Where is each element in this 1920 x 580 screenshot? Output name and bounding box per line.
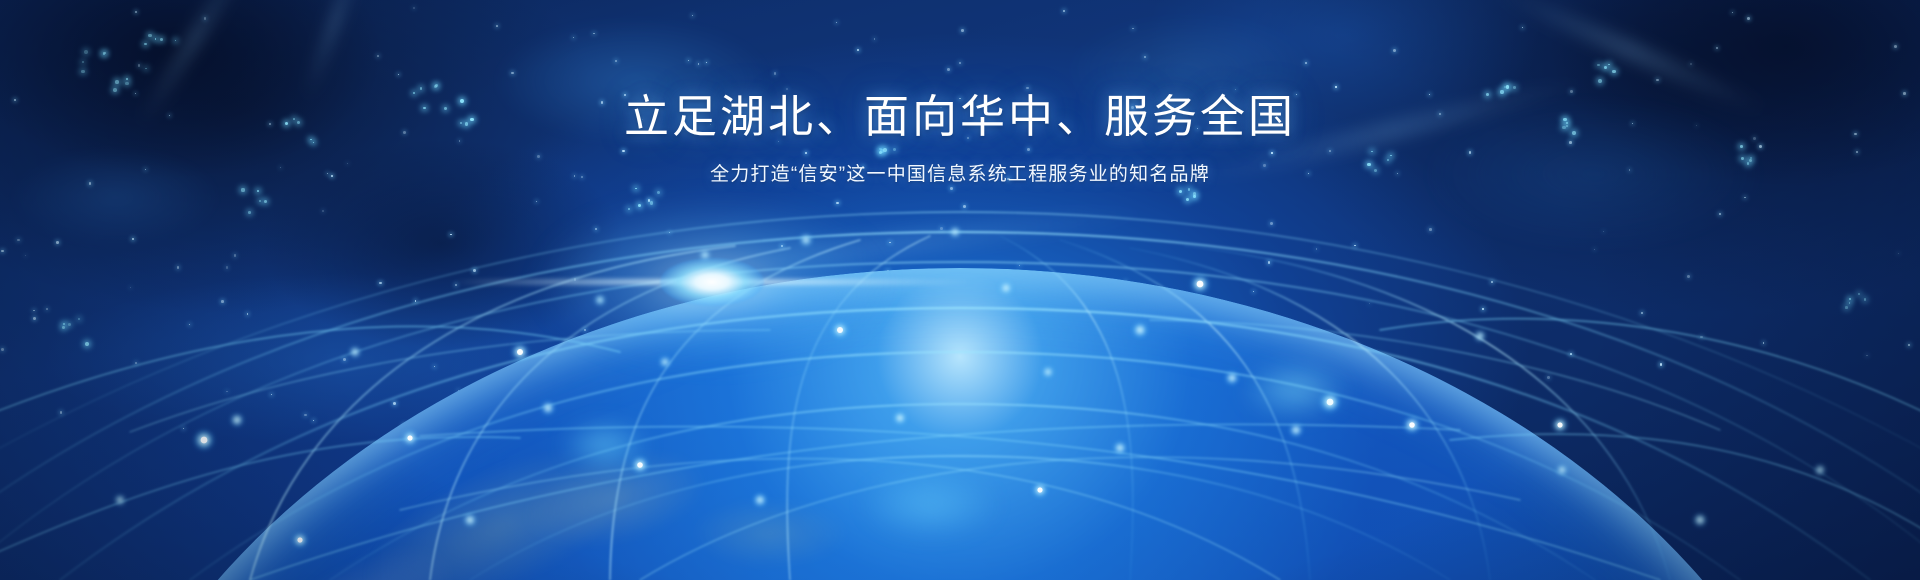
star xyxy=(1716,47,1718,49)
star xyxy=(1656,79,1659,82)
star-cluster-point xyxy=(160,38,164,42)
star xyxy=(698,63,699,64)
globe-glow-spot xyxy=(560,420,650,470)
star-cluster-point xyxy=(1849,302,1851,304)
star xyxy=(1594,249,1595,250)
star-cluster-point xyxy=(628,208,630,210)
star xyxy=(511,72,513,74)
star xyxy=(959,62,961,64)
star xyxy=(961,29,964,32)
star xyxy=(1482,308,1484,310)
star-cluster-point xyxy=(657,191,660,194)
star xyxy=(234,254,236,256)
flare-core xyxy=(660,258,764,306)
star-cluster-point xyxy=(1193,192,1197,196)
star xyxy=(135,362,137,364)
star xyxy=(25,255,26,256)
star xyxy=(132,238,134,240)
star xyxy=(1687,275,1690,278)
star-cluster-point xyxy=(175,40,177,42)
star xyxy=(536,201,537,202)
star xyxy=(1641,312,1643,314)
star xyxy=(226,266,228,268)
star xyxy=(1369,303,1370,304)
star-cluster-point xyxy=(1858,293,1861,296)
star xyxy=(221,300,224,303)
star xyxy=(135,11,138,14)
star xyxy=(60,411,63,414)
star-cluster-point xyxy=(638,204,641,207)
star xyxy=(1393,49,1396,52)
star xyxy=(1,348,4,351)
star xyxy=(1335,86,1336,87)
star xyxy=(17,239,19,241)
star xyxy=(1270,222,1273,225)
star xyxy=(1547,376,1550,379)
star-cluster-point xyxy=(1845,306,1848,309)
star xyxy=(313,420,314,421)
star xyxy=(138,64,140,66)
star-cluster-point xyxy=(420,87,422,89)
star-cluster-point xyxy=(145,68,147,70)
star-cluster-point xyxy=(241,188,244,191)
star xyxy=(774,72,777,75)
star xyxy=(963,205,966,208)
globe-glow-spot xyxy=(860,470,1000,540)
star xyxy=(1747,17,1750,20)
star-cluster-point xyxy=(103,52,105,54)
globe-glow-spot xyxy=(1240,360,1350,420)
star-cluster-point xyxy=(264,200,267,203)
star xyxy=(226,391,228,393)
star xyxy=(1268,261,1271,264)
star-cluster-point xyxy=(257,190,259,192)
star-cluster-point xyxy=(1513,86,1516,89)
star xyxy=(1026,87,1029,90)
star xyxy=(450,234,452,236)
star-cluster-point xyxy=(650,201,654,205)
star xyxy=(322,210,324,212)
star-cluster-point xyxy=(1597,64,1600,67)
star xyxy=(1019,265,1020,266)
star xyxy=(1898,253,1899,254)
star xyxy=(1744,197,1746,199)
star xyxy=(1132,28,1133,29)
star-cluster-point xyxy=(85,342,89,346)
star xyxy=(1866,355,1867,356)
star xyxy=(1144,56,1147,59)
star xyxy=(1719,213,1721,215)
star xyxy=(496,25,498,27)
star xyxy=(33,317,36,320)
star-cluster-point xyxy=(81,70,84,73)
star-cluster-point xyxy=(1598,79,1602,83)
star xyxy=(1603,231,1605,233)
star-cluster-point xyxy=(155,38,157,40)
star xyxy=(271,394,272,395)
star-cluster-point xyxy=(1864,298,1867,301)
star xyxy=(940,227,943,230)
star-cluster-point xyxy=(84,50,88,54)
star xyxy=(1316,248,1318,250)
star xyxy=(398,74,400,76)
star xyxy=(343,358,346,361)
star xyxy=(177,266,180,269)
star xyxy=(615,60,617,62)
star xyxy=(874,38,876,40)
star-cluster-point xyxy=(248,211,251,214)
star xyxy=(130,287,131,288)
star-cluster-point xyxy=(1604,66,1607,69)
star-cluster-point xyxy=(68,323,71,326)
star-cluster-point xyxy=(125,82,129,86)
star xyxy=(189,324,190,325)
star xyxy=(1894,45,1897,48)
star xyxy=(786,88,788,90)
star xyxy=(33,310,35,312)
hero-banner: 立足湖北、面向华中、服务全国 全力打造“信安”这一中国信息系统工程服务业的知名品… xyxy=(0,0,1920,580)
star xyxy=(377,55,379,57)
star xyxy=(593,33,595,35)
star xyxy=(1491,281,1493,283)
star-cluster-point xyxy=(635,188,637,190)
light-flare xyxy=(712,282,714,284)
banner-subline: 全力打造“信安”这一中国信息系统工程服务业的知名品牌 xyxy=(0,159,1920,186)
star-cluster-point xyxy=(1186,198,1190,202)
star xyxy=(1700,336,1702,338)
star xyxy=(1253,291,1254,292)
star xyxy=(1,250,4,253)
star xyxy=(1690,63,1692,65)
star-cluster-point xyxy=(1188,188,1191,191)
star-cluster-point xyxy=(1506,85,1509,88)
star xyxy=(413,7,415,9)
star xyxy=(1305,62,1307,64)
star xyxy=(393,402,396,405)
star xyxy=(56,241,59,244)
star xyxy=(857,49,859,51)
star-cluster-point xyxy=(78,318,81,321)
star xyxy=(1063,10,1065,12)
star xyxy=(204,17,207,20)
star xyxy=(692,15,693,16)
star-cluster-point xyxy=(82,61,84,63)
star xyxy=(1732,12,1733,13)
star xyxy=(434,366,435,367)
star xyxy=(1429,228,1432,231)
star-cluster-point xyxy=(259,200,261,202)
star xyxy=(688,60,690,62)
banner-copy: 立足湖北、面向华中、服务全国 全力打造“信安”这一中国信息系统工程服务业的知名品… xyxy=(0,92,1920,186)
star xyxy=(1570,353,1572,355)
star xyxy=(1763,342,1764,343)
star-cluster-point xyxy=(1179,190,1182,193)
star xyxy=(183,428,184,429)
star xyxy=(836,22,837,23)
star-cluster-point xyxy=(144,43,147,46)
star-cluster-point xyxy=(62,326,65,329)
star-cluster-point xyxy=(115,80,119,84)
star-cluster-point xyxy=(148,34,151,37)
star xyxy=(1354,245,1355,246)
star xyxy=(706,62,707,63)
star xyxy=(247,313,248,314)
star xyxy=(1908,344,1911,347)
star xyxy=(415,300,416,301)
star xyxy=(573,37,574,38)
star-cluster-point xyxy=(1849,298,1851,300)
star xyxy=(1235,89,1236,90)
star xyxy=(947,68,950,71)
star xyxy=(1660,363,1662,365)
star xyxy=(473,269,476,272)
star xyxy=(889,242,890,243)
star xyxy=(836,202,839,205)
star xyxy=(304,414,306,416)
star-cluster-point xyxy=(1612,70,1616,74)
star xyxy=(379,282,382,285)
star-cluster-point xyxy=(434,85,437,88)
star xyxy=(950,187,953,190)
star xyxy=(1522,27,1523,28)
star-cluster-point xyxy=(126,78,128,80)
star xyxy=(46,308,48,310)
star-cluster-point xyxy=(1608,64,1610,66)
banner-headline: 立足湖北、面向华中、服务全国 xyxy=(0,92,1920,142)
